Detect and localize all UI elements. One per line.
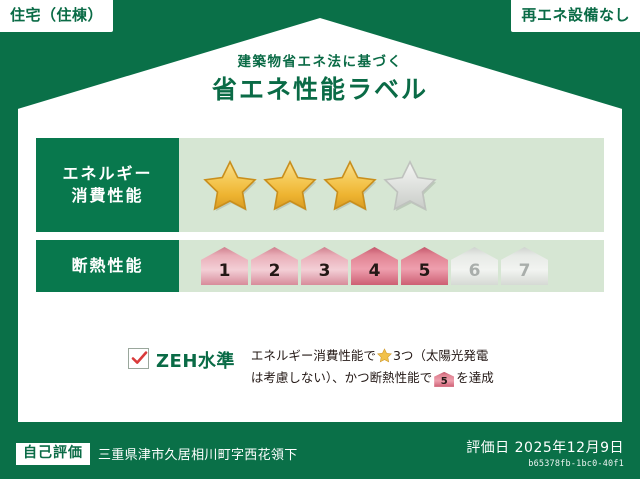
energy-label-line2: 消費性能 [71, 185, 143, 207]
insulation-badge-value: 5 [419, 261, 431, 281]
zeh-standard-block: ZEH水準 エネルギー消費性能で3つ（太陽光発電 は考慮しない）、かつ断熱性能で… [128, 345, 541, 389]
building-address: 三重県津市久居相川町字西花領下 [98, 444, 298, 463]
insulation-level-scale: 1234567 [201, 247, 548, 285]
star-icon-filled [321, 157, 379, 213]
insulation-badge-value: 7 [519, 261, 531, 281]
energy-performance-label-box: エネルギー 消費性能 [36, 138, 179, 232]
title-lead: 建築物省エネ法に基づく [0, 54, 640, 70]
energy-label-line1: エネルギー [62, 163, 152, 185]
evaluation-date: 評価日 2025年12月9日 [466, 439, 624, 457]
footer-left: 自己評価 三重県津市久居相川町字西花領下 [16, 443, 298, 465]
renewable-equipment-tag: 再エネ設備なし [511, 0, 640, 32]
insulation-badge-value: 3 [319, 261, 331, 281]
insulation-badge-4: 4 [351, 247, 398, 285]
page-title: 建築物省エネ法に基づく 省エネ性能ラベル [0, 54, 640, 105]
star-icon-inline [377, 348, 392, 363]
insulation-badge-value: 2 [269, 261, 281, 281]
zeh-standard-name: ZEH水準 [156, 347, 235, 373]
star-icon-filled [261, 157, 319, 213]
insulation-performance-row: 断熱性能 1234567 [36, 240, 604, 292]
insulation-badge-5: 5 [401, 247, 448, 285]
energy-performance-label: 住宅（住棟） 再エネ設備なし 建築物省エネ法に基づく 省エネ性能ラベル エネルギ… [0, 0, 640, 479]
star-rating [201, 157, 439, 213]
title-main: 省エネ性能ラベル [0, 74, 640, 105]
insulation-badge-inline: 5 [434, 372, 454, 387]
insulation-badge-value: 4 [369, 261, 381, 281]
insulation-badge-1: 1 [201, 247, 248, 285]
zeh-checkbox [128, 348, 149, 369]
zeh-description: エネルギー消費性能で3つ（太陽光発電 は考慮しない）、かつ断熱性能で5を達成 [251, 345, 541, 389]
energy-rating-content [179, 138, 604, 232]
zeh-desc-star-count: 3つ（太陽光発電 [393, 348, 488, 363]
insulation-performance-label-box: 断熱性能 [36, 240, 179, 292]
zeh-desc-line2b: を達成 [456, 370, 494, 385]
insulation-badge-3: 3 [301, 247, 348, 285]
energy-performance-row: エネルギー 消費性能 [36, 138, 604, 232]
evaluation-type-tag: 自己評価 [16, 443, 90, 465]
insulation-badge-value: 6 [469, 261, 481, 281]
insulation-badge-value: 1 [219, 261, 231, 281]
star-icon-filled [201, 157, 259, 213]
insulation-badge-2: 2 [251, 247, 298, 285]
zeh-desc-line2a: は考慮しない）、かつ断熱性能で [251, 370, 432, 385]
zeh-desc-part1: エネルギー消費性能で [251, 348, 376, 363]
insulation-badge-inline-value: 5 [434, 372, 454, 391]
check-icon [131, 351, 148, 366]
insulation-badge-6: 6 [451, 247, 498, 285]
insulation-badge-7: 7 [501, 247, 548, 285]
star-icon-empty [381, 157, 439, 213]
evaluation-id: b65378fb-1bc0-40f1 [466, 459, 624, 469]
footer-right: 評価日 2025年12月9日 b65378fb-1bc0-40f1 [466, 439, 624, 469]
insulation-label-line1: 断熱性能 [71, 255, 143, 277]
building-type-tag: 住宅（住棟） [0, 0, 113, 32]
insulation-rating-content: 1234567 [179, 240, 604, 292]
